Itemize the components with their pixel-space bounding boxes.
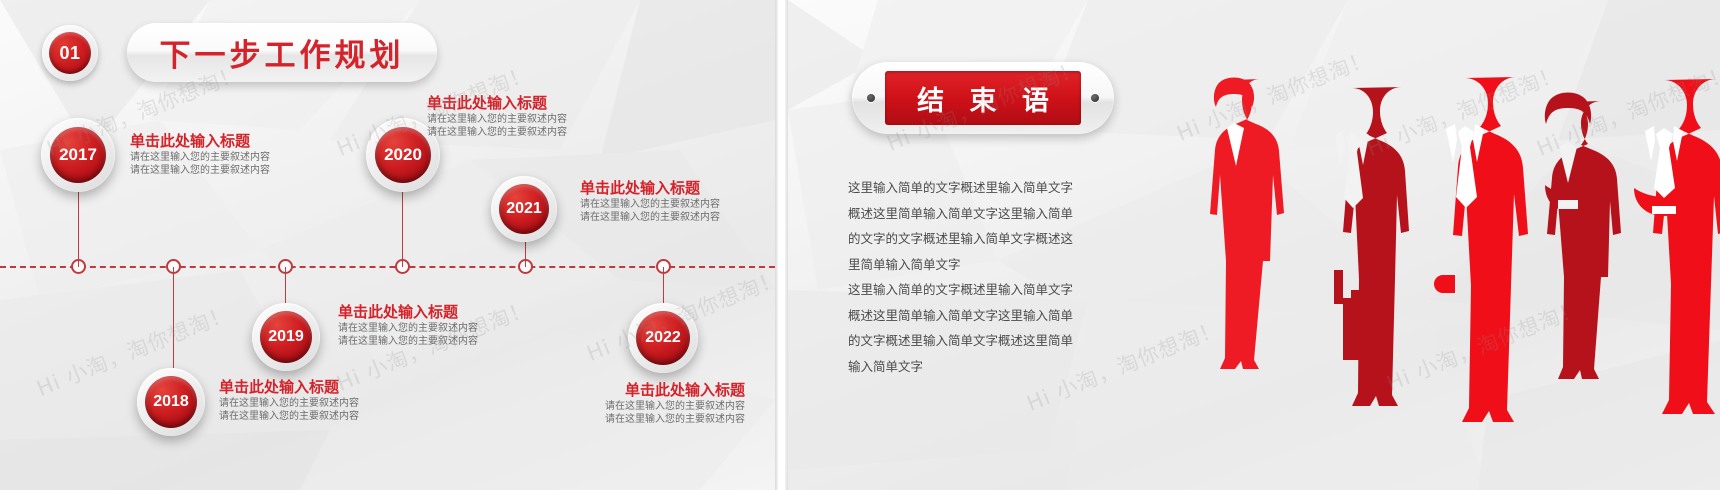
timeline-node-year: 2021: [499, 184, 549, 234]
silhouette-woman-4: [1545, 93, 1621, 380]
timeline-node-2021[interactable]: 2021: [491, 176, 557, 242]
timeline-text-2019: 单击此处输入标题 请在这里输入您的主要叙述内容 请在这里输入您的主要叙述内容: [338, 302, 478, 348]
timeline-node-2018[interactable]: 2018: [137, 368, 205, 436]
timeline-node-year: 2017: [50, 127, 106, 183]
paragraph-line: 概述这里简单输入简单文字这里输入简单: [848, 303, 1140, 329]
silhouette-woman-1: [1210, 78, 1284, 370]
timeline-stem: [663, 267, 664, 307]
closing-title: 结 束 语: [909, 79, 1057, 118]
timeline-node-year: 2020: [375, 127, 431, 183]
screw-icon: [867, 94, 875, 102]
paragraph-line: 的文字概述里输入简单文字概述这里简单: [848, 328, 1140, 354]
timeline-body-line-1: 请在这里输入您的主要叙述内容: [338, 322, 478, 335]
timeline-node-year: 2018: [145, 376, 197, 428]
timeline-text-2018: 单击此处输入标题 请在这里输入您的主要叙述内容 请在这里输入您的主要叙述内容: [219, 377, 359, 423]
timeline-heading: 单击此处输入标题: [338, 302, 478, 322]
closing-title-plaque: 结 束 语: [852, 62, 1114, 134]
timeline-body-line-2: 请在这里输入您的主要叙述内容: [130, 164, 270, 177]
paragraph-line: 概述这里简单输入简单文字这里输入简单: [848, 201, 1140, 227]
slide-next-step-plan[interactable]: 01 下一步工作规划 2017 单击此处输入标题 请在这里输入您的主要叙述内容 …: [0, 0, 775, 490]
slide-title-pill: 下一步工作规划: [127, 23, 437, 82]
paragraph-line: 的文字的文字概述里输入简单文字概述这: [848, 226, 1140, 252]
section-number-badge: 01: [42, 25, 98, 81]
timeline-stem: [285, 267, 286, 307]
timeline-body-line-1: 请在这里输入您的主要叙述内容: [455, 400, 745, 413]
timeline-heading: 单击此处输入标题: [130, 131, 270, 151]
timeline-heading: 单击此处输入标题: [219, 377, 359, 397]
closing-paragraph: 这里输入简单的文字概述里输入简单文字 概述这里简单输入简单文字这里输入简单 的文…: [848, 175, 1140, 379]
closing-title-panel: 结 束 语: [885, 71, 1081, 125]
timeline-body-line-1: 请在这里输入您的主要叙述内容: [427, 113, 567, 126]
timeline-node-2017[interactable]: 2017: [41, 118, 115, 192]
timeline-body-line-1: 请在这里输入您的主要叙述内容: [130, 151, 270, 164]
section-number-label: 01: [49, 32, 91, 74]
timeline-node-2019[interactable]: 2019: [252, 303, 320, 371]
timeline-stem: [78, 180, 79, 267]
slide-divider: [775, 0, 788, 490]
timeline-body-line-1: 请在这里输入您的主要叙述内容: [580, 198, 720, 211]
timeline-text-2021: 单击此处输入标题 请在这里输入您的主要叙述内容 请在这里输入您的主要叙述内容: [580, 178, 720, 224]
presentation-preview: 01 下一步工作规划 2017 单击此处输入标题 请在这里输入您的主要叙述内容 …: [0, 0, 1720, 490]
paragraph-line: 里简单输入简单文字: [848, 252, 1140, 278]
silhouette-man-2: [1334, 87, 1409, 406]
timeline-text-2022: 单击此处输入标题 请在这里输入您的主要叙述内容 请在这里输入您的主要叙述内容: [455, 380, 745, 426]
paragraph-line: 这里输入简单的文字概述里输入简单文字: [848, 175, 1140, 201]
timeline-body-line-2: 请在这里输入您的主要叙述内容: [338, 335, 478, 348]
timeline-node-year: 2022: [636, 311, 690, 365]
timeline-text-2017: 单击此处输入标题 请在这里输入您的主要叙述内容 请在这里输入您的主要叙述内容: [130, 131, 270, 177]
timeline-heading: 单击此处输入标题: [455, 380, 745, 400]
timeline-heading: 单击此处输入标题: [427, 93, 567, 113]
timeline-body-line-2: 请在这里输入您的主要叙述内容: [455, 413, 745, 426]
paragraph-line: 输入简单文字: [848, 354, 1140, 380]
timeline-stem: [173, 267, 174, 372]
page-title: 下一步工作规划: [160, 30, 405, 75]
silhouette-group-icon: [1160, 60, 1720, 430]
timeline-text-2020: 单击此处输入标题 请在这里输入您的主要叙述内容 请在这里输入您的主要叙述内容: [427, 93, 567, 139]
timeline-body-line-1: 请在这里输入您的主要叙述内容: [219, 397, 359, 410]
paragraph-line: 这里输入简单的文字概述里输入简单文字: [848, 277, 1140, 303]
timeline-heading: 单击此处输入标题: [580, 178, 720, 198]
business-people-silhouettes: [1160, 60, 1720, 430]
timeline-body-line-2: 请在这里输入您的主要叙述内容: [219, 410, 359, 423]
timeline-stem: [402, 180, 403, 267]
timeline-node-2022[interactable]: 2022: [628, 303, 698, 373]
timeline-body-line-2: 请在这里输入您的主要叙述内容: [580, 211, 720, 224]
screw-icon: [1091, 94, 1099, 102]
timeline-node-year: 2019: [260, 311, 312, 363]
timeline-body-line-2: 请在这里输入您的主要叙述内容: [427, 126, 567, 139]
